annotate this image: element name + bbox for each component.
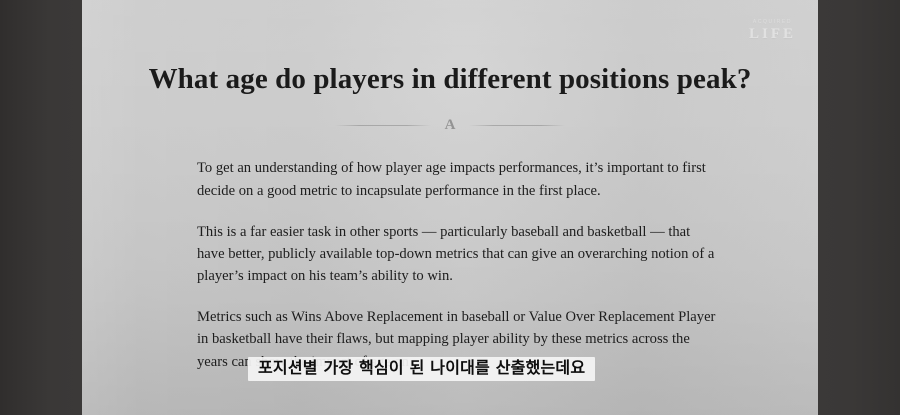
article-paragraph: To get an understanding of how player ag… [197, 157, 717, 201]
video-frame: ACQUIRED LIFE What age do players in dif… [0, 0, 900, 415]
divider-rule-right [469, 125, 565, 126]
watermark: ACQUIRED LIFE [749, 20, 796, 42]
article-body: To get an understanding of how player ag… [82, 133, 747, 372]
letterbox-bar-left [0, 0, 82, 415]
subtitle-caption: 포지션별 가장 핵심이 된 나이대를 산출했는데요 [248, 357, 595, 381]
article-content: What age do players in different positio… [82, 0, 818, 392]
article-title: What age do players in different positio… [82, 0, 818, 97]
article-paragraph: This is a far easier task in other sport… [197, 221, 717, 288]
article-page: ACQUIRED LIFE What age do players in dif… [82, 0, 818, 415]
section-divider: A [325, 118, 575, 133]
watermark-logo-text: LIFE [749, 26, 796, 43]
divider-ornament-letter: A [445, 118, 456, 133]
letterbox-bar-right [818, 0, 900, 415]
divider-rule-left [335, 125, 431, 126]
